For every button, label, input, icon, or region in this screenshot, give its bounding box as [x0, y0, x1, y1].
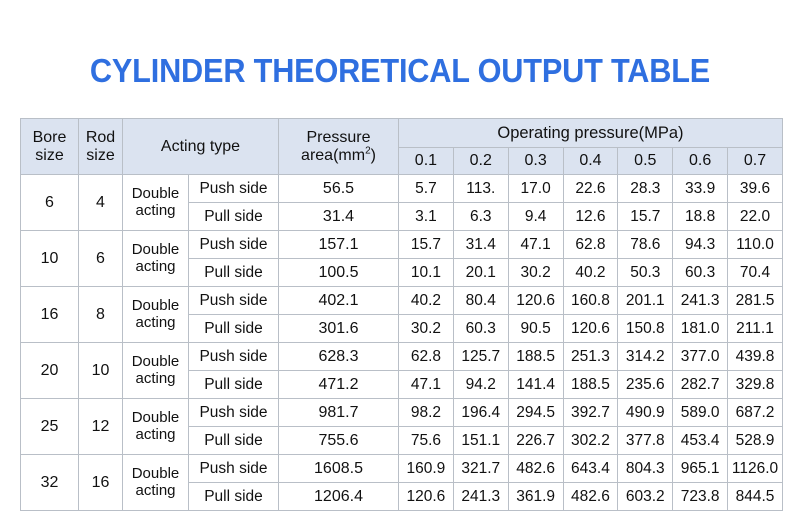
cell-output: 75.6	[399, 427, 454, 455]
cell-side: Pull side	[189, 371, 279, 399]
cell-output: 201.1	[618, 287, 673, 315]
cell-pressure-area: 755.6	[279, 427, 399, 455]
cell-output: 589.0	[673, 399, 728, 427]
page-root: CYLINDER THEORETICAL OUTPUT TABLE Bore s…	[0, 0, 800, 504]
header-pressure-area-close: )	[371, 147, 376, 164]
cell-output: 453.4	[673, 427, 728, 455]
cell-bore-size: 32	[21, 455, 79, 511]
cell-bore-size: 10	[21, 231, 79, 287]
acting-type-line2: acting	[135, 370, 175, 387]
header-pressure-area: Pressure area(mm2)	[279, 119, 399, 175]
header-rod-size-line2: size	[86, 147, 114, 164]
cell-output: 321.7	[453, 455, 508, 483]
cell-output: 10.1	[399, 259, 454, 287]
table-row: 10 6 Double acting Push side 157.1 15.7 …	[21, 231, 783, 259]
cell-pressure-area: 628.3	[279, 343, 399, 371]
cell-rod-size: 6	[79, 231, 123, 287]
cell-output: 30.2	[508, 259, 563, 287]
cell-output: 113.	[453, 175, 508, 203]
table-row: 32 16 Double acting Push side 1608.5 160…	[21, 455, 783, 483]
cell-output: 15.7	[399, 231, 454, 259]
cell-output: 9.4	[508, 203, 563, 231]
cell-output: 90.5	[508, 315, 563, 343]
cell-output: 151.1	[453, 427, 508, 455]
cell-output: 125.7	[453, 343, 508, 371]
cell-output: 294.5	[508, 399, 563, 427]
cell-output: 141.4	[508, 371, 563, 399]
cell-output: 439.8	[728, 343, 783, 371]
cell-output: 60.3	[673, 259, 728, 287]
cell-acting-type: Double acting	[123, 455, 189, 511]
cell-output: 196.4	[453, 399, 508, 427]
acting-type-line2: acting	[135, 202, 175, 219]
cell-output: 241.3	[673, 287, 728, 315]
cell-output: 31.4	[453, 231, 508, 259]
cell-side: Pull side	[189, 427, 279, 455]
cell-acting-type: Double acting	[123, 175, 189, 231]
cell-side: Push side	[189, 455, 279, 483]
cell-output: 80.4	[453, 287, 508, 315]
cell-side: Pull side	[189, 315, 279, 343]
cell-output: 528.9	[728, 427, 783, 455]
cell-output: 17.0	[508, 175, 563, 203]
header-pressure-0-3: 0.3	[508, 148, 563, 175]
cell-output: 251.3	[563, 343, 618, 371]
cell-output: 50.3	[618, 259, 673, 287]
cell-output: 120.6	[563, 315, 618, 343]
cell-output: 3.1	[399, 203, 454, 231]
cell-output: 62.8	[563, 231, 618, 259]
page-title: CYLINDER THEORETICAL OUTPUT TABLE	[28, 52, 772, 90]
header-pressure-0-7: 0.7	[728, 148, 783, 175]
header-bore-size-line2: size	[35, 147, 63, 164]
cell-output: 40.2	[399, 287, 454, 315]
cell-output: 160.9	[399, 455, 454, 483]
table-row: 6 4 Double acting Push side 56.5 5.7 113…	[21, 175, 783, 203]
cell-pressure-area: 981.7	[279, 399, 399, 427]
cell-output: 120.6	[399, 483, 454, 511]
cell-output: 329.8	[728, 371, 783, 399]
cell-output: 22.0	[728, 203, 783, 231]
cell-pressure-area: 56.5	[279, 175, 399, 203]
acting-type-line1: Double	[132, 241, 180, 258]
cell-output: 40.2	[563, 259, 618, 287]
cell-output: 281.5	[728, 287, 783, 315]
cell-bore-size: 25	[21, 399, 79, 455]
cell-output: 39.6	[728, 175, 783, 203]
header-pressure-0-6: 0.6	[673, 148, 728, 175]
header-pressure-0-1: 0.1	[399, 148, 454, 175]
acting-type-line1: Double	[132, 353, 180, 370]
cell-acting-type: Double acting	[123, 287, 189, 343]
cell-pressure-area: 402.1	[279, 287, 399, 315]
header-rod-size: Rod size	[79, 119, 123, 175]
cell-output: 94.3	[673, 231, 728, 259]
cell-side: Push side	[189, 231, 279, 259]
cell-pressure-area: 31.4	[279, 203, 399, 231]
cell-output: 188.5	[563, 371, 618, 399]
cell-output: 120.6	[508, 287, 563, 315]
cell-rod-size: 10	[79, 343, 123, 399]
cell-side: Pull side	[189, 259, 279, 287]
cell-output: 15.7	[618, 203, 673, 231]
cell-output: 844.5	[728, 483, 783, 511]
table-head: Bore size Rod size Acting type Pressure …	[21, 119, 783, 175]
header-row-primary: Bore size Rod size Acting type Pressure …	[21, 119, 783, 148]
cell-acting-type: Double acting	[123, 231, 189, 287]
table-row: 20 10 Double acting Push side 628.3 62.8…	[21, 343, 783, 371]
cell-pressure-area: 471.2	[279, 371, 399, 399]
cell-output: 28.3	[618, 175, 673, 203]
cell-output: 22.6	[563, 175, 618, 203]
cell-output: 94.2	[453, 371, 508, 399]
cell-output: 62.8	[399, 343, 454, 371]
cell-output: 965.1	[673, 455, 728, 483]
cell-output: 235.6	[618, 371, 673, 399]
header-acting-type: Acting type	[123, 119, 279, 175]
acting-type-line1: Double	[132, 185, 180, 202]
cell-pressure-area: 100.5	[279, 259, 399, 287]
cell-output: 70.4	[728, 259, 783, 287]
header-operating-pressure: Operating pressure(MPa)	[399, 119, 783, 148]
table-body: 6 4 Double acting Push side 56.5 5.7 113…	[21, 175, 783, 511]
cell-output: 98.2	[399, 399, 454, 427]
cell-output: 181.0	[673, 315, 728, 343]
acting-type-line2: acting	[135, 314, 175, 331]
cell-side: Push side	[189, 399, 279, 427]
cylinder-output-table: Bore size Rod size Acting type Pressure …	[20, 118, 783, 511]
cell-side: Push side	[189, 175, 279, 203]
acting-type-line2: acting	[135, 482, 175, 499]
cell-bore-size: 16	[21, 287, 79, 343]
acting-type-line1: Double	[132, 409, 180, 426]
cell-output: 392.7	[563, 399, 618, 427]
cell-output: 160.8	[563, 287, 618, 315]
cell-output: 6.3	[453, 203, 508, 231]
cell-bore-size: 20	[21, 343, 79, 399]
cell-output: 188.5	[508, 343, 563, 371]
output-table-container: Bore size Rod size Acting type Pressure …	[20, 118, 772, 511]
cell-output: 804.3	[618, 455, 673, 483]
cell-side: Push side	[189, 343, 279, 371]
acting-type-line2: acting	[135, 258, 175, 275]
cell-output: 377.0	[673, 343, 728, 371]
cell-output: 1126.0	[728, 455, 783, 483]
cell-output: 60.3	[453, 315, 508, 343]
cell-output: 302.2	[563, 427, 618, 455]
cell-output: 361.9	[508, 483, 563, 511]
cell-pressure-area: 301.6	[279, 315, 399, 343]
table-row: 25 12 Double acting Push side 981.7 98.2…	[21, 399, 783, 427]
header-pressure-area-line1: Pressure	[306, 129, 370, 146]
acting-type-line2: acting	[135, 426, 175, 443]
acting-type-line1: Double	[132, 297, 180, 314]
cell-output: 33.9	[673, 175, 728, 203]
cell-side: Push side	[189, 287, 279, 315]
cell-output: 30.2	[399, 315, 454, 343]
cell-pressure-area: 1206.4	[279, 483, 399, 511]
cell-output: 482.6	[508, 455, 563, 483]
header-pressure-0-2: 0.2	[453, 148, 508, 175]
cell-output: 12.6	[563, 203, 618, 231]
cell-output: 47.1	[508, 231, 563, 259]
cell-output: 211.1	[728, 315, 783, 343]
cell-output: 723.8	[673, 483, 728, 511]
cell-output: 314.2	[618, 343, 673, 371]
cell-output: 603.2	[618, 483, 673, 511]
header-pressure-area-line2: area(mm	[301, 147, 365, 164]
cell-output: 282.7	[673, 371, 728, 399]
cell-output: 377.8	[618, 427, 673, 455]
header-pressure-0-4: 0.4	[563, 148, 618, 175]
cell-acting-type: Double acting	[123, 343, 189, 399]
cell-output: 47.1	[399, 371, 454, 399]
cell-output: 482.6	[563, 483, 618, 511]
cell-output: 78.6	[618, 231, 673, 259]
cell-output: 226.7	[508, 427, 563, 455]
acting-type-line1: Double	[132, 465, 180, 482]
cell-output: 20.1	[453, 259, 508, 287]
cell-output: 490.9	[618, 399, 673, 427]
cell-pressure-area: 157.1	[279, 231, 399, 259]
cell-output: 241.3	[453, 483, 508, 511]
table-row: 16 8 Double acting Push side 402.1 40.2 …	[21, 287, 783, 315]
cell-bore-size: 6	[21, 175, 79, 231]
header-bore-size: Bore size	[21, 119, 79, 175]
header-bore-size-line1: Bore	[33, 129, 67, 146]
cell-output: 150.8	[618, 315, 673, 343]
cell-rod-size: 8	[79, 287, 123, 343]
cell-rod-size: 12	[79, 399, 123, 455]
cell-output: 687.2	[728, 399, 783, 427]
header-pressure-0-5: 0.5	[618, 148, 673, 175]
cell-acting-type: Double acting	[123, 399, 189, 455]
cell-side: Pull side	[189, 483, 279, 511]
cell-output: 110.0	[728, 231, 783, 259]
cell-rod-size: 4	[79, 175, 123, 231]
cell-side: Pull side	[189, 203, 279, 231]
cell-pressure-area: 1608.5	[279, 455, 399, 483]
cell-output: 18.8	[673, 203, 728, 231]
cell-output: 643.4	[563, 455, 618, 483]
cell-rod-size: 16	[79, 455, 123, 511]
cell-output: 5.7	[399, 175, 454, 203]
header-rod-size-line1: Rod	[86, 129, 115, 146]
